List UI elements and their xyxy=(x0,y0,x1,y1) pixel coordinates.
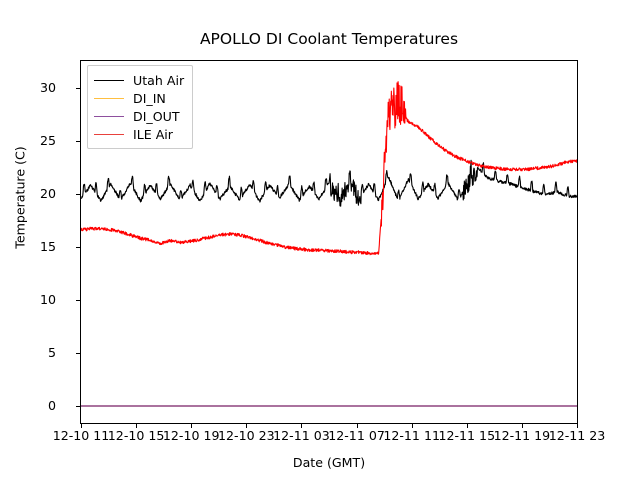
legend-item-label: Utah Air xyxy=(133,73,184,88)
series-line-utah-air xyxy=(81,160,577,206)
x-tick-mark xyxy=(81,424,82,428)
x-tick-label: 12-10 15 xyxy=(108,429,165,443)
x-tick-mark xyxy=(246,424,247,428)
x-axis-label: Date (GMT) xyxy=(80,455,578,470)
x-tick-label: 12-11 15 xyxy=(438,429,495,443)
x-tick-mark xyxy=(301,424,302,428)
x-tick-mark xyxy=(357,424,358,428)
x-tick-label: 12-10 11 xyxy=(53,429,110,443)
x-tick-mark xyxy=(412,424,413,428)
legend-item-label: ILE Air xyxy=(133,127,173,142)
x-tick-label: 12-10 19 xyxy=(163,429,220,443)
chart-legend[interactable]: Utah AirDI_INDI_OUTILE Air xyxy=(87,65,193,149)
legend-line-icon xyxy=(94,134,124,135)
y-tick-label: 0 xyxy=(16,400,56,412)
x-tick-mark xyxy=(577,424,578,428)
x-tick-label: 12-11 23 xyxy=(549,429,606,443)
legend-item-label: DI_IN xyxy=(133,91,166,106)
legend-line-icon xyxy=(94,80,124,81)
legend-line-icon xyxy=(94,98,124,99)
y-tick-label: 5 xyxy=(16,347,56,359)
y-tick-label: 15 xyxy=(16,241,56,253)
x-tick-label: 12-10 23 xyxy=(218,429,275,443)
x-tick-mark xyxy=(191,424,192,428)
legend-item-utah-air[interactable]: Utah Air xyxy=(94,71,184,89)
legend-line-icon xyxy=(94,116,124,117)
legend-item-ile-air[interactable]: ILE Air xyxy=(94,125,184,143)
legend-item-di-in[interactable]: DI_IN xyxy=(94,89,184,107)
chart-title: APOLLO DI Coolant Temperatures xyxy=(80,30,578,48)
x-tick-label: 12-11 19 xyxy=(494,429,551,443)
figure-canvas: APOLLO DI Coolant Temperatures Temperatu… xyxy=(0,0,640,480)
x-tick-mark xyxy=(136,424,137,428)
y-tick-label: 25 xyxy=(16,135,56,147)
y-tick-label: 10 xyxy=(16,294,56,306)
x-tick-label: 12-11 03 xyxy=(273,429,330,443)
y-tick-label: 20 xyxy=(16,188,56,200)
y-tick-label: 30 xyxy=(16,82,56,94)
x-tick-mark xyxy=(522,424,523,428)
x-tick-label: 12-11 11 xyxy=(383,429,440,443)
x-tick-label: 12-11 07 xyxy=(328,429,385,443)
legend-item-label: DI_OUT xyxy=(133,109,180,124)
legend-item-di-out[interactable]: DI_OUT xyxy=(94,107,184,125)
x-tick-mark xyxy=(467,424,468,428)
